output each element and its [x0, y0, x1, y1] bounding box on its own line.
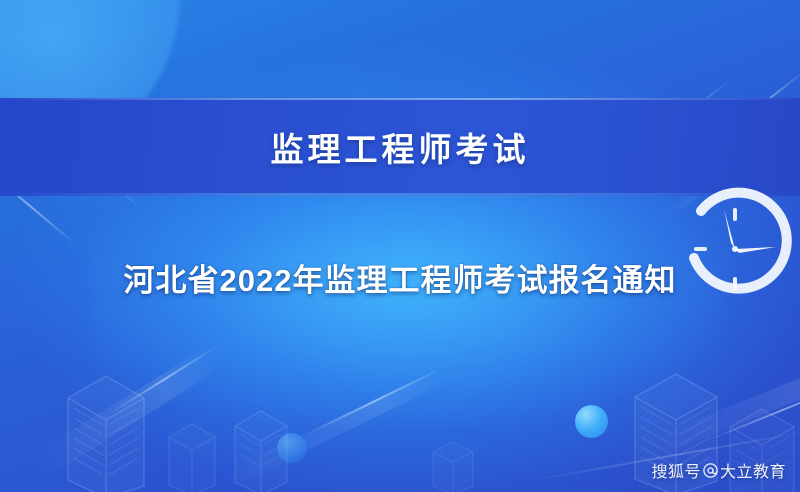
building-icon	[58, 358, 154, 492]
page-title: 监理工程师考试	[0, 98, 800, 196]
light-streak-icon	[224, 368, 447, 488]
at-sign-icon	[702, 462, 719, 479]
light-streak-icon	[29, 346, 221, 479]
light-streak-icon	[307, 367, 443, 435]
poster-canvas: 监理工程师考试 河北省2022年监理工程师考试报名通知 搜狐号 大立教育	[0, 0, 800, 492]
building-icon	[163, 415, 221, 492]
light-streak-icon	[706, 376, 800, 442]
light-streak-icon	[650, 353, 800, 458]
watermark-account: 大立教育	[720, 458, 786, 482]
center-glow-shape	[90, 196, 730, 426]
page-subtitle: 河北省2022年监理工程师考试报名通知	[0, 255, 800, 300]
watermark-platform: 搜狐号	[651, 458, 701, 482]
sphere-icon	[575, 405, 608, 438]
watermark: 搜狐号 大立教育	[651, 458, 786, 482]
light-streak-icon	[109, 344, 220, 415]
building-icon	[428, 434, 478, 492]
building-icon	[228, 400, 294, 492]
sphere-icon	[277, 433, 307, 463]
